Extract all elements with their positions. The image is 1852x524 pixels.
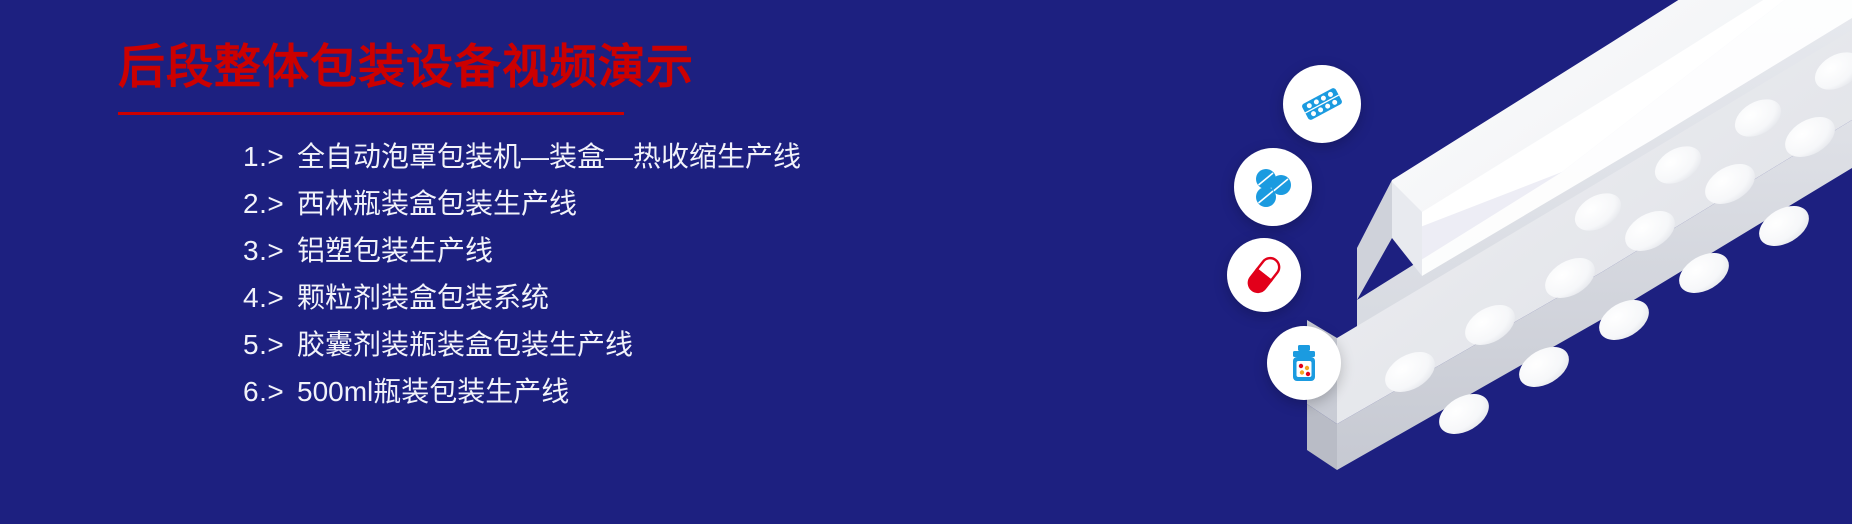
list-item-label: 铝塑包装生产线	[297, 227, 493, 274]
promo-banner: 后段整体包装设备视频演示 1.> 全自动泡罩包装机—装盒—热收缩生产线 2.> …	[0, 0, 1852, 524]
list-item-label: 胶囊剂装瓶装盒包装生产线	[297, 321, 633, 368]
list-item-number: 6.>	[243, 368, 297, 415]
list-item-label: 全自动泡罩包装机—装盒—热收缩生产线	[297, 133, 801, 180]
list-item-label: 颗粒剂装盒包装系统	[297, 274, 549, 321]
list-item-number: 3.>	[243, 227, 297, 274]
list-item-number: 1.>	[243, 133, 297, 180]
list-item[interactable]: 1.> 全自动泡罩包装机—装盒—热收缩生产线	[243, 133, 801, 180]
blister-pack-icon	[1283, 65, 1361, 143]
text-column: 后段整体包装设备视频演示 1.> 全自动泡罩包装机—装盒—热收缩生产线 2.> …	[0, 0, 1020, 524]
list-item[interactable]: 3.> 铝塑包装生产线	[243, 227, 801, 274]
tablets-icon	[1234, 148, 1312, 226]
list-item-label: 西林瓶装盒包装生产线	[297, 180, 577, 227]
list-item[interactable]: 6.> 500ml瓶装包装生产线	[243, 368, 801, 415]
list-item[interactable]: 5.> 胶囊剂装瓶装盒包装生产线	[243, 321, 801, 368]
capsule-icon	[1227, 238, 1301, 312]
product-line-list: 1.> 全自动泡罩包装机—装盒—热收缩生产线 2.> 西林瓶装盒包装生产线 3.…	[243, 133, 801, 415]
title-underline	[118, 112, 624, 115]
list-item-number: 5.>	[243, 321, 297, 368]
medicine-bottle-icon	[1267, 326, 1341, 400]
list-item-label: 500ml瓶装包装生产线	[297, 368, 569, 415]
page-title: 后段整体包装设备视频演示	[118, 38, 694, 97]
blister-pack-carton-3d-illustration	[1092, 0, 1852, 524]
list-item-number: 2.>	[243, 180, 297, 227]
list-item[interactable]: 4.> 颗粒剂装盒包装系统	[243, 274, 801, 321]
list-item-number: 4.>	[243, 274, 297, 321]
list-item[interactable]: 2.> 西林瓶装盒包装生产线	[243, 180, 801, 227]
